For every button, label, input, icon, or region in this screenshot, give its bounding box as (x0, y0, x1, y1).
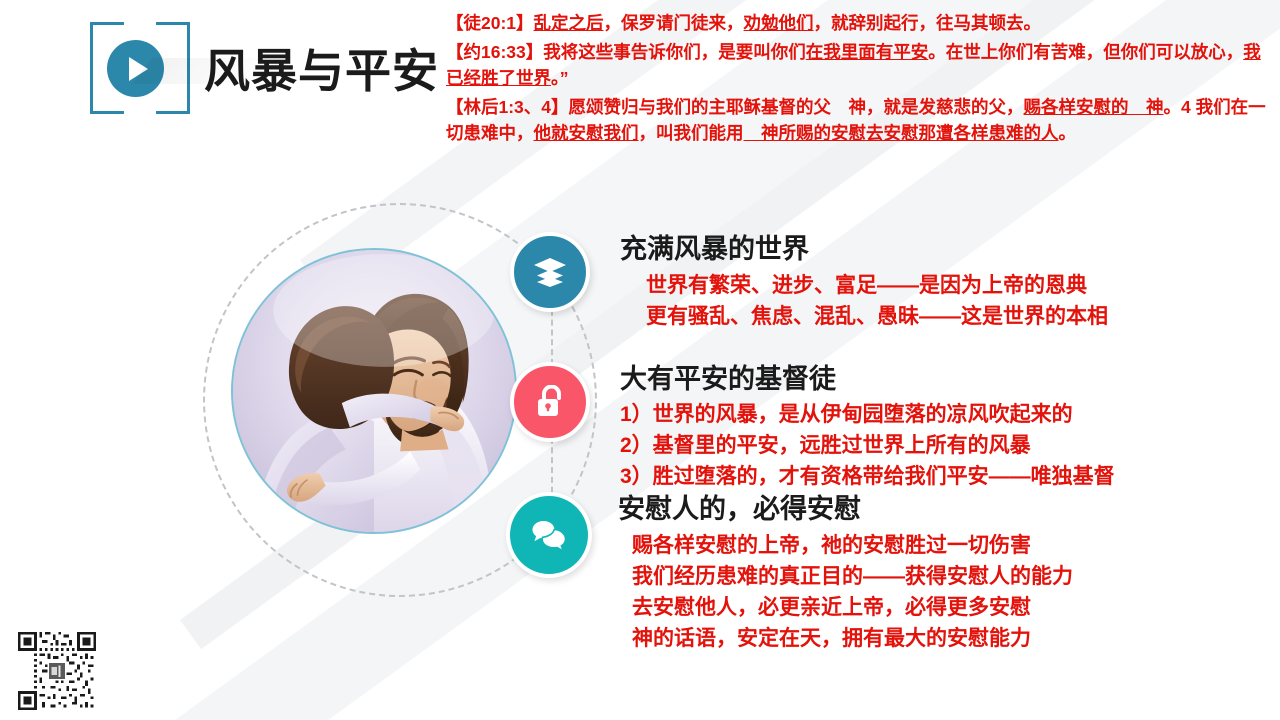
verse-reference: 【徒20:1】 (446, 13, 534, 33)
qr-code[interactable] (18, 632, 96, 710)
logo-frame (90, 22, 190, 114)
verse-text: ，保罗请门徒来， (604, 13, 744, 33)
section-lines: 1）世界的风暴，是从伊甸园堕落的凉风吹起来的 2）基督里的平安，远胜过世界上所有… (620, 399, 1115, 492)
section-line: 3）胜过堕落的，才有资格带给我们平安——唯独基督 (620, 461, 1115, 492)
verse-reference: 【约16:33】 (446, 42, 543, 62)
scripture-verse-3: 【林后1:3、4】愿颂赞归与我们的主耶稣基督的父 神，就是发慈悲的父，赐各样安慰… (446, 94, 1268, 146)
verse-emphasis: 赐各样安慰的 神 (1024, 97, 1164, 117)
verse-emphasis: 神所赐的安慰去安慰那遭各样患难的人 (744, 123, 1059, 143)
verse-text: 我将这些事告诉你们，是要叫你们 (543, 42, 806, 62)
scripture-block: 【徒20:1】乱定之后，保罗请门徒来，劝勉他们，就辞别起行，往马其顿去。 【约1… (446, 10, 1268, 149)
layers-stack-icon (510, 232, 590, 312)
section-line: 1）世界的风暴，是从伊甸园堕落的凉风吹起来的 (620, 399, 1115, 430)
frame-edge (90, 22, 93, 114)
frame-edge (156, 111, 190, 114)
content-section-2: 大有平安的基督徒 1）世界的风暴，是从伊甸园堕落的凉风吹起来的 2）基督里的平安… (510, 362, 1115, 492)
section-body: 充满风暴的世界 世界有繁荣、进步、富足——是因为上帝的恩典 更有骚乱、焦虑、混乱… (620, 232, 1108, 332)
frame-edge (187, 22, 190, 114)
verse-emphasis: 乱定之后 (534, 13, 604, 33)
play-triangle-icon (129, 57, 148, 81)
page-title: 风暴与平安 (204, 35, 439, 101)
jesus-embrace-illustration (231, 248, 517, 534)
frame-edge (90, 111, 124, 114)
section-line: 2）基督里的平安，远胜过世界上所有的风暴 (620, 430, 1115, 461)
verse-text: 。在世上你们有苦难，但你们可以放心， (928, 42, 1243, 62)
verse-emphasis: 劝勉他们 (744, 13, 814, 33)
section-line: 神的话语，安定在天，拥有最大的安慰能力 (632, 623, 1073, 654)
section-body: 安慰人的，必得安慰 赐各样安慰的上帝，祂的安慰胜过一切伤害 我们经历患难的真正目… (618, 492, 1073, 654)
section-heading: 大有平安的基督徒 (620, 362, 1115, 396)
section-line: 我们经历患难的真正目的——获得安慰人的能力 (632, 561, 1073, 592)
content-section-1: 充满风暴的世界 世界有繁荣、进步、富足——是因为上帝的恩典 更有骚乱、焦虑、混乱… (510, 232, 1108, 332)
verse-emphasis: 在我里面有平安 (806, 42, 929, 62)
verse-text: 。” (551, 68, 569, 88)
frame-edge (156, 22, 190, 25)
scripture-verse-1: 【徒20:1】乱定之后，保罗请门徒来，劝勉他们，就辞别起行，往马其顿去。 (446, 10, 1268, 36)
section-lines: 世界有繁荣、进步、富足——是因为上帝的恩典 更有骚乱、焦虑、混乱、愚昧——这是世… (620, 270, 1108, 332)
section-body: 大有平安的基督徒 1）世界的风暴，是从伊甸园堕落的凉风吹起来的 2）基督里的平安… (620, 362, 1115, 492)
verse-text: 愿颂赞归与我们的主耶稣基督的父 神，就是发慈悲的父， (569, 97, 1024, 117)
section-line: 更有骚乱、焦虑、混乱、愚昧——这是世界的本相 (646, 301, 1108, 332)
verse-reference: 【林后1:3、4】 (446, 97, 569, 117)
verse-text: 。 (1059, 123, 1077, 143)
section-heading: 充满风暴的世界 (620, 232, 1108, 266)
section-line: 赐各样安慰的上帝，祂的安慰胜过一切伤害 (632, 530, 1073, 561)
unlock-padlock-icon (510, 362, 590, 442)
frame-edge (90, 22, 124, 25)
verse-text: ，叫我们能用 (639, 123, 744, 143)
section-line: 世界有繁荣、进步、富足——是因为上帝的恩典 (646, 270, 1108, 301)
presentation-slide: 风暴与平安 【徒20:1】乱定之后，保罗请门徒来，劝勉他们，就辞别起行，往马其顿… (0, 0, 1280, 720)
slide-header: 风暴与平安 (90, 22, 439, 114)
verse-text: ，就辞别起行，往马其顿去。 (814, 13, 1042, 33)
verse-emphasis: 他就安慰我们 (534, 123, 639, 143)
play-button-icon (107, 40, 164, 97)
scripture-verse-2: 【约16:33】我将这些事告诉你们，是要叫你们在我里面有平安。在世上你们有苦难，… (446, 39, 1268, 91)
section-lines: 赐各样安慰的上帝，祂的安慰胜过一切伤害 我们经历患难的真正目的——获得安慰人的能… (618, 530, 1073, 654)
section-line: 去安慰他人，必更亲近上帝，必得更多安慰 (632, 592, 1073, 623)
speech-bubbles-icon (506, 492, 592, 578)
content-section-3: 安慰人的，必得安慰 赐各样安慰的上帝，祂的安慰胜过一切伤害 我们经历患难的真正目… (506, 492, 1073, 654)
section-heading: 安慰人的，必得安慰 (618, 492, 1073, 526)
